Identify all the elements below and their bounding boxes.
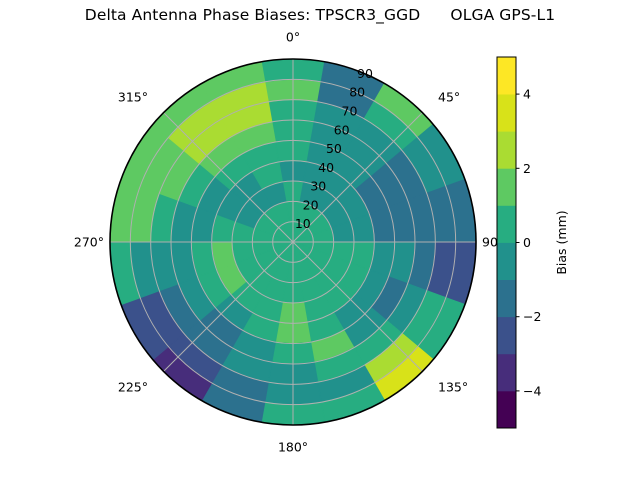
angular-tick-label: 180° bbox=[278, 440, 308, 455]
angular-tick-label: 90 bbox=[482, 235, 498, 250]
colorbar-band bbox=[497, 131, 516, 169]
colorbar-band bbox=[497, 94, 516, 132]
colorbar-band bbox=[497, 280, 516, 318]
angular-tick-label: 225° bbox=[118, 380, 148, 395]
page-title: Delta Antenna Phase Biases: TPSCR3_GGD O… bbox=[0, 6, 640, 24]
radial-tick-label: 20 bbox=[303, 197, 319, 212]
angular-tick-label: 315° bbox=[118, 90, 148, 105]
colorbar-band bbox=[497, 391, 516, 429]
colorbar-tick-label: 0 bbox=[523, 235, 531, 250]
colorbar: −4−2024Bias (mm) bbox=[497, 57, 569, 428]
colorbar-band bbox=[497, 168, 516, 206]
radial-tick-label: 50 bbox=[326, 141, 342, 156]
colorbar-band bbox=[497, 317, 516, 355]
colorbar-band bbox=[497, 205, 516, 243]
figure-canvas: Delta Antenna Phase Biases: TPSCR3_GGD O… bbox=[0, 0, 640, 480]
angular-tick-label: 270° bbox=[74, 235, 104, 250]
radial-tick-label: 40 bbox=[318, 160, 334, 175]
colorbar-axis-label: Bias (mm) bbox=[554, 210, 569, 274]
colorbar-tick-label: 4 bbox=[523, 87, 531, 102]
radial-tick-label: 80 bbox=[349, 85, 365, 100]
radial-tick-label: 10 bbox=[295, 216, 311, 231]
polar-grid-layer bbox=[110, 59, 476, 425]
grid-lines bbox=[110, 59, 476, 425]
colorbar-tick-label: 2 bbox=[523, 161, 531, 176]
angular-tick-label: 45° bbox=[438, 90, 460, 105]
radial-tick-label: 30 bbox=[310, 179, 326, 194]
angular-tick-label: 135° bbox=[438, 380, 468, 395]
radial-tick-label: 70 bbox=[342, 104, 358, 119]
colorbar-band bbox=[497, 243, 516, 281]
angular-tick-label: 0° bbox=[286, 30, 300, 45]
polar-contour-plot: 102030405060708090 0°45°90135°180°225°27… bbox=[0, 0, 640, 480]
radial-tick-label: 90 bbox=[357, 66, 373, 81]
colorbar-tick-label: −4 bbox=[523, 383, 541, 398]
colorbar-tick-label: −2 bbox=[523, 309, 541, 324]
colorbar-band bbox=[497, 57, 516, 95]
colorbar-band bbox=[497, 354, 516, 392]
radial-tick-label: 60 bbox=[334, 122, 350, 137]
